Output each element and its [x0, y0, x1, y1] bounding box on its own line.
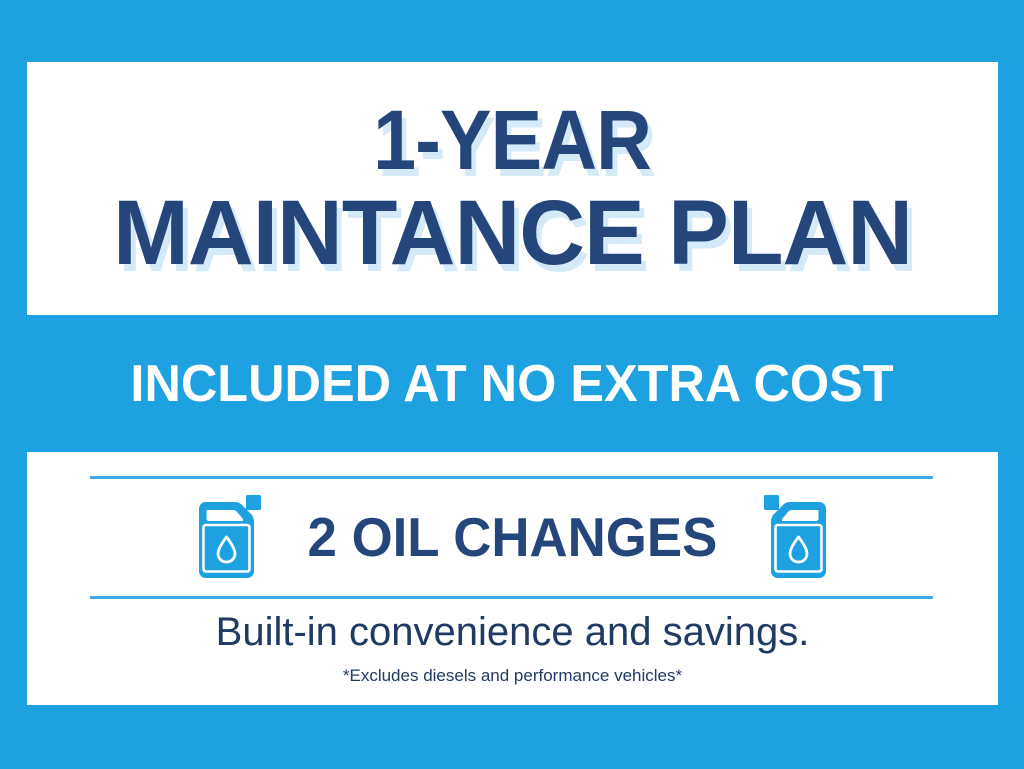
promo-poster: 1-YEAR MAINTANCE PLAN INCLUDED AT NO EXT… [0, 0, 1024, 769]
divider-top [90, 476, 933, 479]
detail-card: 2 OIL CHANGES Built-in convenience and s… [27, 452, 998, 705]
oil-jug-icon-left [191, 493, 265, 581]
divider-bottom [90, 596, 933, 599]
headline-line-2: MAINTANCE PLAN [113, 188, 912, 278]
subtitle-banner: INCLUDED AT NO EXTRA COST [15, 315, 1008, 452]
oil-jug-icon-right [760, 493, 834, 581]
headline-line-1: 1-YEAR [374, 99, 652, 181]
offer-row: 2 OIL CHANGES [27, 482, 998, 592]
tagline: Built-in convenience and savings. [27, 610, 998, 655]
offer-label: 2 OIL CHANGES [308, 505, 718, 569]
footnote-disclaimer: *Excludes diesels and performance vehicl… [27, 666, 998, 686]
headline-card: 1-YEAR MAINTANCE PLAN [27, 62, 998, 315]
